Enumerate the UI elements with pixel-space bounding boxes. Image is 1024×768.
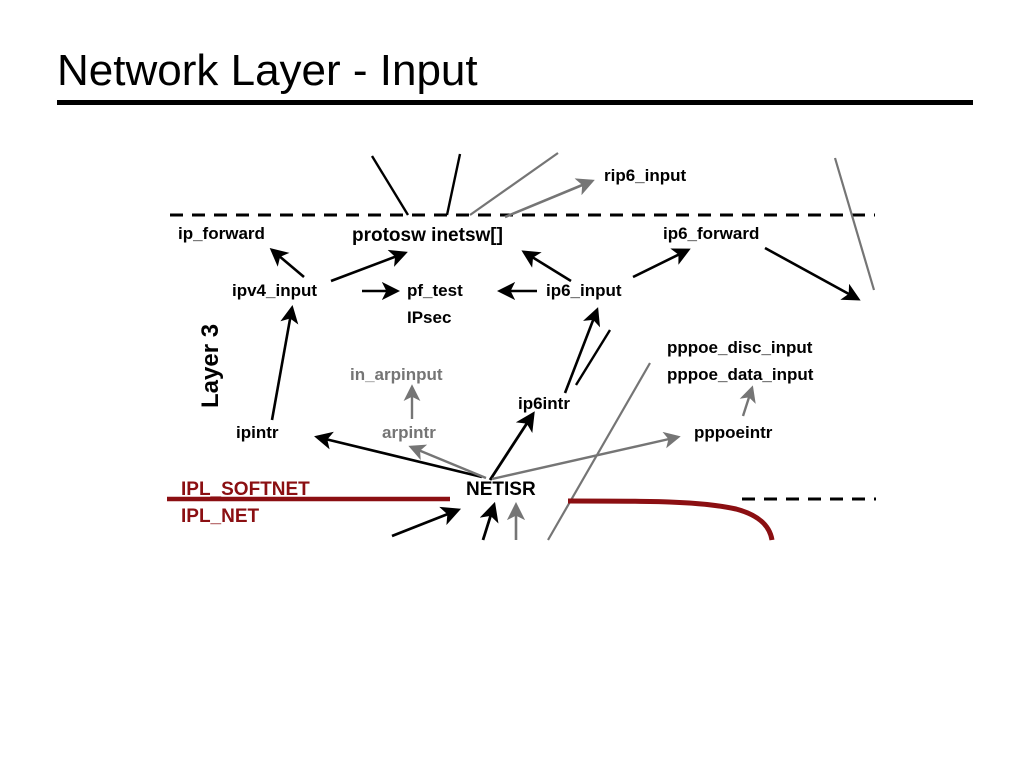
edge-ipv4_input-to-ip_forward [272,250,304,277]
node-ip6intr: ip6intr [518,394,570,415]
node-pppoe_data_input: pppoe_data_input [667,365,813,386]
edge-protosw-to-rip6_input [505,181,592,217]
node-protosw-inetsw: protosw inetsw[] [352,224,503,247]
node-ip_forward: ip_forward [178,224,265,245]
edge-pppoeintr-to-pppoe_data_input [743,388,752,416]
protosw-uplink-2 [447,154,460,215]
edge-ipv4_input-to-protosw [331,253,405,281]
gray-diagonal-through-netisr [548,363,650,540]
ipl-boundary-right-curve [568,501,772,540]
node-ipv4_input: ipv4_input [232,281,317,302]
right-gray-crossing-line [835,158,874,290]
slide: Network Layer - Input [0,0,1024,768]
edge-netisr-to-pppoeintr [492,437,678,479]
edge-below-to-netisr-center [483,505,494,540]
axis-label-layer3: Layer 3 [196,324,225,408]
protosw-uplink-gray-1 [470,153,558,215]
node-in_arpinput: in_arpinput [350,365,443,386]
edge-ip6_forward-to-right [765,248,858,299]
node-pppoe_disc_input: pppoe_disc_input [667,338,812,359]
node-ipintr: ipintr [236,423,279,444]
node-ip6_input: ip6_input [546,281,622,302]
black-diagonal-above-ip6intr [576,330,610,385]
node-arpintr: arpintr [382,423,436,444]
edge-ip6intr-to-ip6_input [565,310,597,393]
node-netisr: NETISR [466,478,536,501]
node-pppoeintr: pppoeintr [694,423,772,444]
node-rip6_input: rip6_input [604,166,686,187]
edge-ip6_input-to-protosw [524,252,571,281]
network-layer-input-diagram: Layer 3 ip_forward protosw inetsw[] rip6… [0,0,1024,768]
edge-ip6_input-to-ip6_forward [633,250,688,277]
edge-below-to-netisr-left [392,510,458,536]
edge-ipintr-to-ipv4_input [272,308,292,420]
node-pf_test: pf_test [407,281,463,302]
protosw-uplink-1 [372,156,408,215]
label-ipl_softnet: IPL_SOFTNET [181,478,310,501]
node-ip6_forward: ip6_forward [663,224,759,245]
node-ipsec: IPsec [407,308,451,329]
diagram-canvas [0,0,1024,768]
label-ipl_net: IPL_NET [181,505,259,528]
